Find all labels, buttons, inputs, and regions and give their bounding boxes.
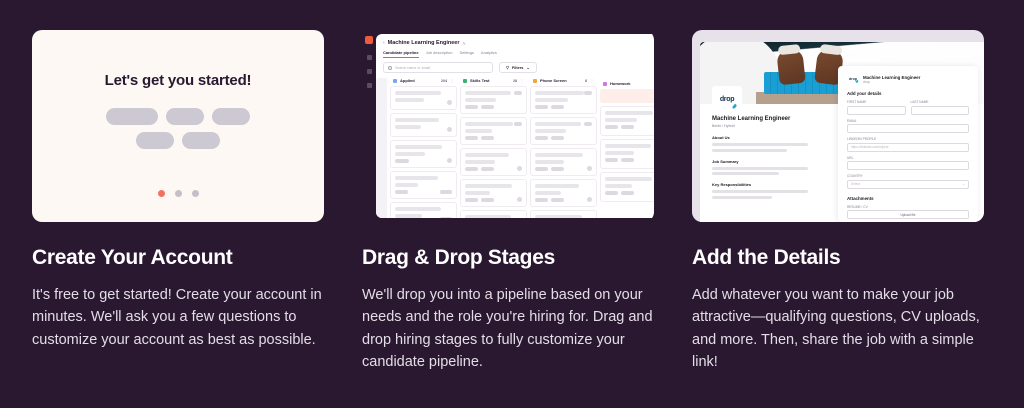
search-placeholder: Search name or email (395, 66, 430, 70)
column-menu-icon[interactable]: ⋮ (450, 78, 454, 83)
kanban-column-phone-screen[interactable]: Phone Screen 8 ⋮ (530, 78, 597, 218)
skeleton-pill (136, 132, 174, 149)
column-count: 28 (513, 79, 517, 83)
settings-icon[interactable] (367, 69, 372, 74)
app-main: ‹ Machine Learning Engineer ✎ Candidate … (376, 34, 654, 218)
kanban-column-applied[interactable]: Applied 204 ⋮ (390, 78, 457, 218)
drop-zone[interactable] (600, 89, 654, 103)
column-menu-icon[interactable]: ⋮ (520, 78, 524, 83)
job-description: Machine Learning Engineer Berlin / Hybri… (700, 104, 818, 199)
linkedin-placeholder: https://linkedin.com/in/jdoe (851, 145, 889, 149)
step-add-the-details: drop Machine Learning Engineer Berlin / … (692, 30, 984, 374)
candidate-card[interactable] (460, 179, 527, 207)
last-name-label: Last name (911, 100, 970, 104)
search-icon (388, 66, 392, 70)
linkedin-field[interactable]: https://linkedin.com/in/jdoe (847, 143, 969, 152)
app-tabs: Candidate pipeline Job description Setti… (383, 50, 647, 58)
app-toolbar: Search name or email ▽ Filters ⌄ (383, 62, 647, 73)
candidate-card[interactable] (390, 140, 457, 168)
edit-icon[interactable]: ✎ (463, 41, 466, 46)
country-value: Select (851, 182, 860, 186)
email-field[interactable] (847, 124, 969, 133)
breadcrumb: ‹ Machine Learning Engineer ✎ (383, 40, 647, 46)
column-name: Applied (400, 78, 438, 83)
tab-analytics[interactable]: Analytics (481, 50, 497, 58)
column-header: Skills Test 28 ⋮ (460, 78, 527, 83)
upload-resume-button[interactable]: Upload file (847, 210, 969, 219)
pipeline-app-visual: ‹ Machine Learning Engineer ✎ Candidate … (362, 30, 654, 222)
company-logo-text: drop (720, 96, 734, 103)
app-header: ‹ Machine Learning Engineer ✎ Candidate … (376, 34, 654, 73)
section-job-summary: Job Summary (712, 159, 808, 164)
candidate-card[interactable] (600, 139, 654, 169)
kanban-columns: Applied 204 ⋮ (387, 78, 654, 218)
email-label: Email (847, 119, 969, 123)
candidate-card[interactable] (390, 171, 457, 199)
company-logo: drop (712, 86, 742, 112)
candidate-card[interactable] (530, 179, 597, 207)
droplet-icon (732, 104, 738, 110)
carousel-dot-3[interactable] (192, 190, 199, 197)
upload-resume-label: Upload file (900, 213, 915, 217)
column-name: Skills Test (470, 78, 510, 83)
url-label: URL (847, 156, 969, 160)
candidate-card[interactable] (460, 117, 527, 145)
candidate-card[interactable] (390, 86, 457, 110)
chevron-left-icon[interactable]: ‹ (383, 40, 385, 46)
column-name: Phone Screen (540, 78, 582, 83)
step-body: It's free to get started! Create your ac… (32, 284, 324, 351)
column-name: Homework (610, 81, 654, 86)
tab-job-description[interactable]: Job description (426, 50, 453, 58)
stage-color-icon (393, 79, 397, 83)
column-header: Phone Screen 8 ⋮ (530, 78, 597, 83)
search-input[interactable]: Search name or email (383, 62, 493, 73)
skeleton-pill (182, 132, 220, 149)
column-count: 8 (585, 79, 587, 83)
job-post-page: drop Machine Learning Engineer Berlin / … (700, 42, 984, 222)
hand-left-icon (776, 49, 805, 86)
candidate-card[interactable] (600, 106, 654, 136)
details-heading: Add your details (847, 91, 969, 96)
app-logo-icon (365, 36, 373, 44)
candidate-card[interactable] (530, 210, 597, 218)
skeleton-pill (106, 108, 158, 125)
filters-label: Filters (512, 66, 523, 70)
stage-color-icon (603, 82, 607, 86)
board-gutter (376, 78, 387, 218)
first-name-field[interactable] (847, 106, 906, 115)
form-company-name: drop (863, 80, 920, 84)
carousel-dot-2[interactable] (175, 190, 182, 197)
job-meta: Berlin / Hybrid (712, 124, 808, 128)
step-body: Add whatever you want to make your job a… (692, 284, 984, 374)
column-header: Applied 204 ⋮ (390, 78, 457, 83)
candidate-card[interactable] (530, 117, 597, 145)
step-heading: Create Your Account (32, 246, 324, 270)
job-application-visual: drop Machine Learning Engineer Berlin / … (692, 30, 984, 222)
tab-candidate-pipeline[interactable]: Candidate pipeline (383, 50, 419, 58)
attachments-heading: Attachments (847, 196, 969, 201)
column-menu-icon[interactable]: ⋮ (590, 78, 594, 83)
candidate-card[interactable] (460, 86, 527, 114)
step-heading: Add the Details (692, 246, 984, 270)
candidate-card[interactable] (460, 148, 527, 176)
kanban-column-skills-test[interactable]: Skills Test 28 ⋮ (460, 78, 527, 218)
onboarding-card-visual: Let's get you started! (32, 30, 324, 222)
candidate-card[interactable] (530, 148, 597, 176)
column-header: Homework (600, 78, 654, 89)
app-sidebar (362, 30, 376, 222)
section-key-responsibilities: Key Responsibilities (712, 182, 808, 187)
form-job-title: Machine Learning Engineer (863, 75, 920, 80)
step-heading: Drag & Drop Stages (362, 246, 654, 270)
kanban-column-homework[interactable]: Homework (600, 78, 654, 218)
chevron-down-icon: ⌄ (962, 182, 965, 186)
skeleton-pill (212, 108, 250, 125)
carousel-dot-1[interactable] (158, 190, 165, 197)
resume-label: Resume / CV (847, 205, 969, 209)
candidate-card[interactable] (460, 210, 527, 218)
first-name-label: First name (847, 100, 906, 104)
carousel-dots[interactable] (32, 190, 324, 197)
form-header: drop Machine Learning Engineer drop (847, 74, 969, 84)
help-icon[interactable] (367, 83, 372, 88)
url-field[interactable] (847, 161, 969, 170)
skeleton-pills (32, 108, 324, 156)
column-count: 204 (441, 79, 447, 83)
country-select[interactable]: Select ⌄ (847, 180, 969, 189)
form-company-logo: drop (847, 74, 859, 84)
stage-color-icon (463, 79, 467, 83)
step-drag-drop-stages: ‹ Machine Learning Engineer ✎ Candidate … (362, 30, 654, 374)
skeleton-pill (166, 108, 204, 125)
steps-row: Let's get you started! Create Your Accou… (0, 0, 1024, 374)
linkedin-label: LinkedIn profile (847, 137, 969, 141)
step-create-account: Let's get you started! Create Your Accou… (32, 30, 324, 374)
filter-icon: ▽ (506, 65, 509, 70)
stage-color-icon (533, 79, 537, 83)
candidate-card[interactable] (530, 86, 597, 114)
section-about-us: About Us (712, 135, 808, 140)
collapse-icon[interactable] (367, 55, 372, 60)
droplet-icon (855, 80, 859, 84)
page-title: Machine Learning Engineer (388, 40, 460, 46)
filters-button[interactable]: ▽ Filters ⌄ (499, 62, 537, 73)
country-label: Country (847, 174, 969, 178)
last-name-field[interactable] (911, 106, 970, 115)
step-body: We'll drop you into a pipeline based on … (362, 284, 654, 374)
candidate-card[interactable] (600, 172, 654, 202)
job-title: Machine Learning Engineer (712, 116, 808, 122)
tab-settings[interactable]: Settings (459, 50, 473, 58)
application-form: drop Machine Learning Engineer drop Add … (838, 66, 978, 222)
candidate-card[interactable] (390, 202, 457, 218)
chevron-down-icon: ⌄ (526, 65, 529, 70)
candidate-card[interactable] (390, 113, 457, 137)
kanban-board: Applied 204 ⋮ (376, 78, 654, 218)
onboarding-title: Let's get you started! (32, 72, 324, 89)
